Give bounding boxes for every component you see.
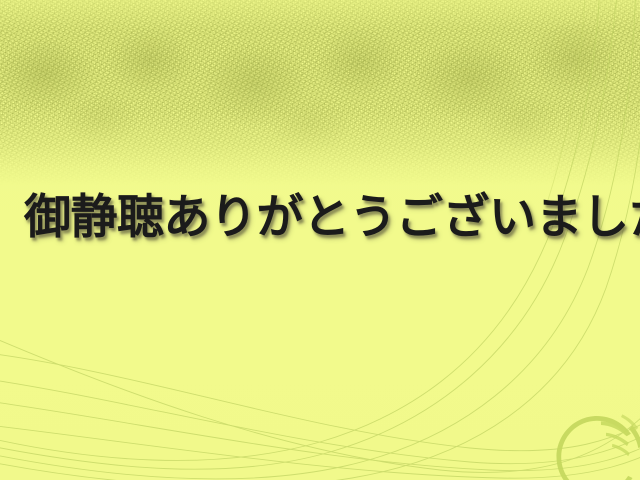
slide-title: 御静聴ありがとうございました。	[24, 193, 616, 242]
presentation-slide: 御静聴ありがとうございました。	[0, 0, 640, 480]
